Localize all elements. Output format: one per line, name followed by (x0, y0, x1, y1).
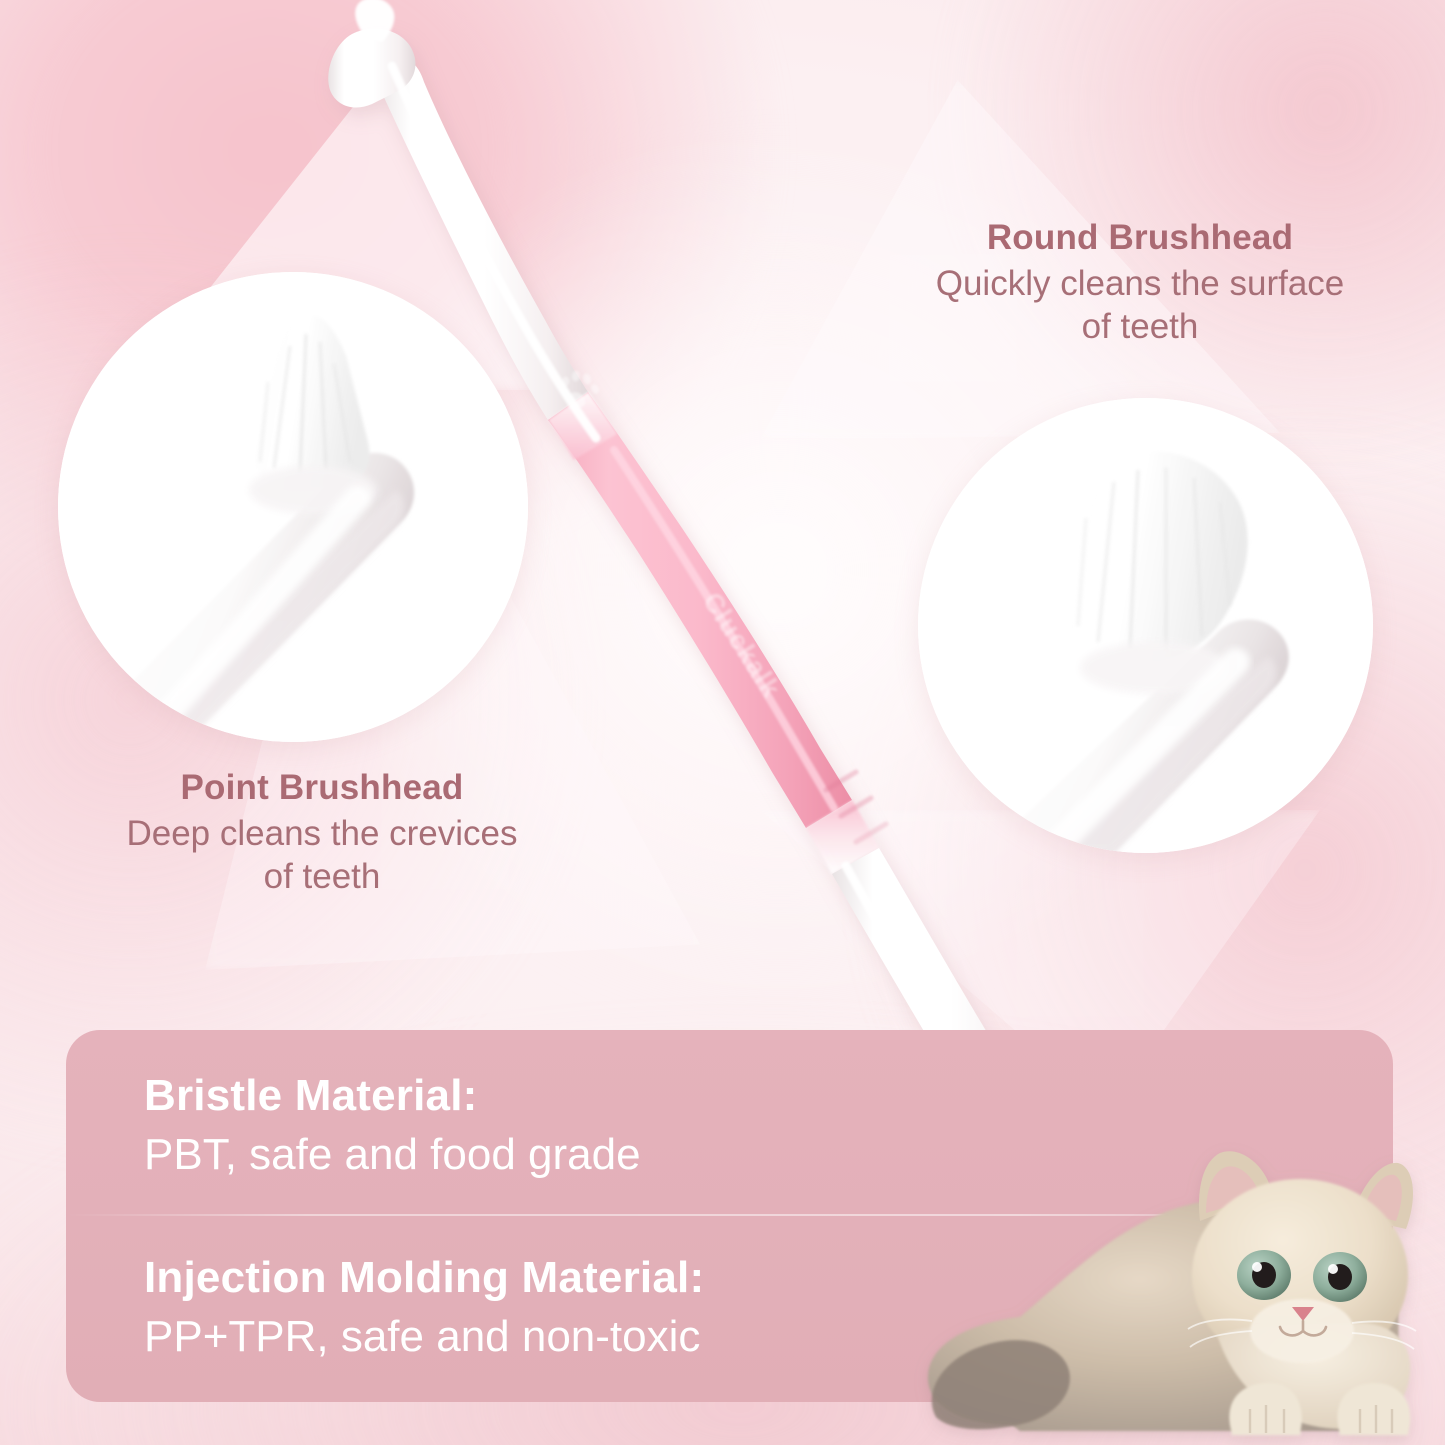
infographic-canvas: Cluckalk (0, 0, 1445, 1445)
bristle-material-label: Bristle Material: (144, 1070, 641, 1122)
round-brushhead-zoom-circle (918, 398, 1373, 853)
callout-point-title: Point Brushhead (42, 768, 602, 807)
point-brushhead-zoom-circle (58, 272, 528, 742)
cat-eye-glint-right (1328, 1264, 1338, 1274)
material-row-injection: Injection Molding Material: PP+TPR, safe… (144, 1252, 704, 1364)
callout-round-desc-line2: of teeth (855, 306, 1425, 349)
cat-eye-glint-left (1252, 1262, 1262, 1272)
callout-round-brushhead: Round Brushhead Quickly cleans the surfa… (855, 218, 1425, 349)
cat-photo (900, 1125, 1445, 1445)
callout-point-brushhead: Point Brushhead Deep cleans the crevices… (42, 768, 602, 899)
callout-point-desc-line2: of teeth (42, 856, 602, 899)
callout-point-desc-line1: Deep cleans the crevices (42, 813, 602, 856)
injection-material-label: Injection Molding Material: (144, 1252, 704, 1304)
material-row-bristle: Bristle Material: PBT, safe and food gra… (144, 1070, 641, 1182)
injection-material-value: PP+TPR, safe and non-toxic (144, 1310, 704, 1364)
bristle-material-value: PBT, safe and food grade (144, 1128, 641, 1182)
callout-round-desc-line1: Quickly cleans the surface (855, 263, 1425, 306)
callout-round-title: Round Brushhead (855, 218, 1425, 257)
